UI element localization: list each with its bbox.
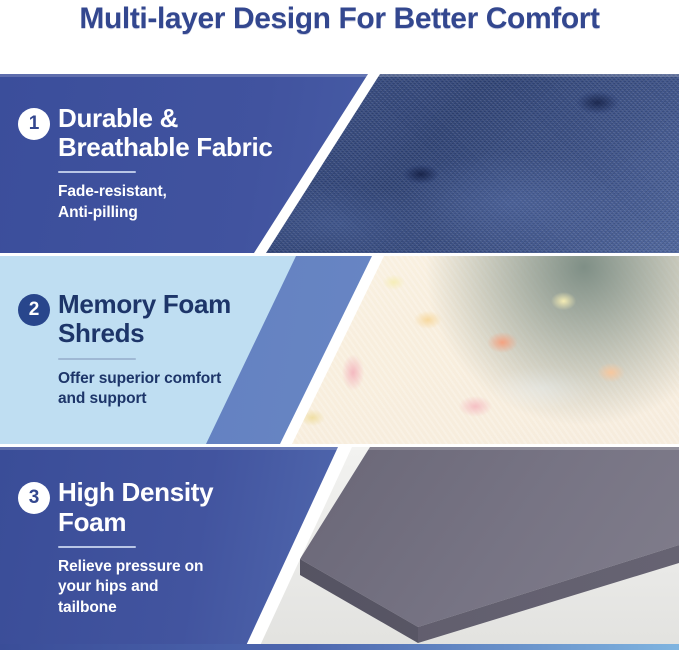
- panel-2-rule: [58, 358, 136, 360]
- panel-3-rule: [58, 546, 136, 548]
- panel-2-content: 2 Memory Foam Shreds Offer superior comf…: [18, 256, 273, 444]
- panel-1-rule: [58, 171, 136, 173]
- panel-2-heading-row: 2 Memory Foam Shreds: [18, 290, 273, 348]
- panel-2-subtext: Offer superior comfort and support: [58, 369, 273, 410]
- panel-1-heading: Durable & Breathable Fabric: [58, 104, 308, 162]
- panel-2-subtext-line-2: and support: [58, 389, 273, 410]
- step-number-badge-3: 3: [18, 482, 50, 514]
- step-number-badge-1: 1: [18, 108, 50, 140]
- panel-3-subtext-line-1: Relieve pressure on: [58, 557, 263, 578]
- feature-panel-2: 2 Memory Foam Shreds Offer superior comf…: [0, 256, 679, 444]
- title-bar: Multi-layer Design For Better Comfort: [0, 0, 679, 74]
- panel-1-subtext-line-2: Anti-pilling: [58, 203, 308, 224]
- panel-3-subtext-line-3: tailbone: [58, 598, 263, 619]
- panel-3-subtext: Relieve pressure on your hips and tailbo…: [58, 557, 263, 619]
- page-title: Multi-layer Design For Better Comfort: [79, 2, 599, 36]
- panel-1-subtext: Fade-resistant, Anti-pilling: [58, 182, 308, 223]
- panel-2-heading: Memory Foam Shreds: [58, 290, 273, 348]
- panel-3-heading: High Density Foam: [58, 478, 263, 536]
- feature-panel-3: 3 High Density Foam Relieve pressure on …: [0, 447, 679, 650]
- panel-1-content: 1 Durable & Breathable Fabric Fade-resis…: [18, 74, 308, 253]
- panel-3-top-highlight: [0, 447, 679, 450]
- panel-3-heading-row: 3 High Density Foam: [18, 478, 263, 536]
- multi-layer-design-infographic: Multi-layer Design For Better Comfort 1 …: [0, 0, 679, 650]
- panel-1-subtext-line-1: Fade-resistant,: [58, 182, 308, 203]
- panel-2-subtext-line-1: Offer superior comfort: [58, 369, 273, 390]
- panel-3-content: 3 High Density Foam Relieve pressure on …: [18, 447, 263, 650]
- feature-panel-1: 1 Durable & Breathable Fabric Fade-resis…: [0, 74, 679, 253]
- panel-3-subtext-line-2: your hips and: [58, 577, 263, 598]
- panel-3-bottom-strip: [0, 644, 679, 650]
- panel-1-heading-row: 1 Durable & Breathable Fabric: [18, 104, 308, 162]
- panel-1-top-highlight: [0, 74, 679, 77]
- step-number-badge-2: 2: [18, 294, 50, 326]
